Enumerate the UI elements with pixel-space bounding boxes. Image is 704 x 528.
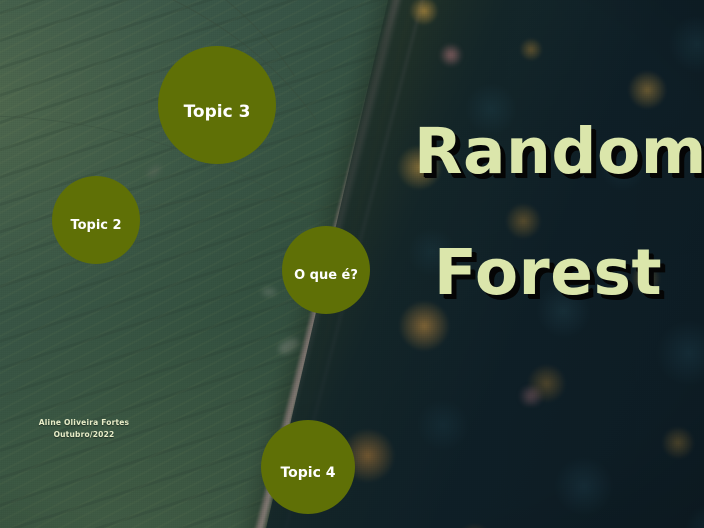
topic-bubble-label: Topic 4 (280, 465, 335, 481)
topic-bubble-topic-4[interactable]: Topic 4 (261, 420, 355, 514)
presentation-slide: Random Forest Topic 3 Topic 2 O que é? T… (0, 0, 704, 528)
slide-title: Random Forest (414, 62, 682, 364)
author-name: Aline Oliveira Fortes (22, 417, 146, 429)
topic-bubble-topic-3[interactable]: Topic 3 (158, 46, 276, 164)
topic-bubble-label: Topic 2 (70, 218, 121, 233)
slide-title-line-2: Forest (414, 243, 682, 303)
topic-bubble-label: O que é? (294, 268, 358, 283)
author-credit: Aline Oliveira Fortes Outubro/2022 (22, 417, 146, 440)
topic-bubble-o-que-e[interactable]: O que é? (282, 226, 370, 314)
presentation-date: Outubro/2022 (22, 429, 146, 441)
topic-bubble-topic-2[interactable]: Topic 2 (52, 176, 140, 264)
topic-bubble-label: Topic 3 (184, 102, 251, 122)
slide-title-line-1: Random (414, 122, 682, 182)
